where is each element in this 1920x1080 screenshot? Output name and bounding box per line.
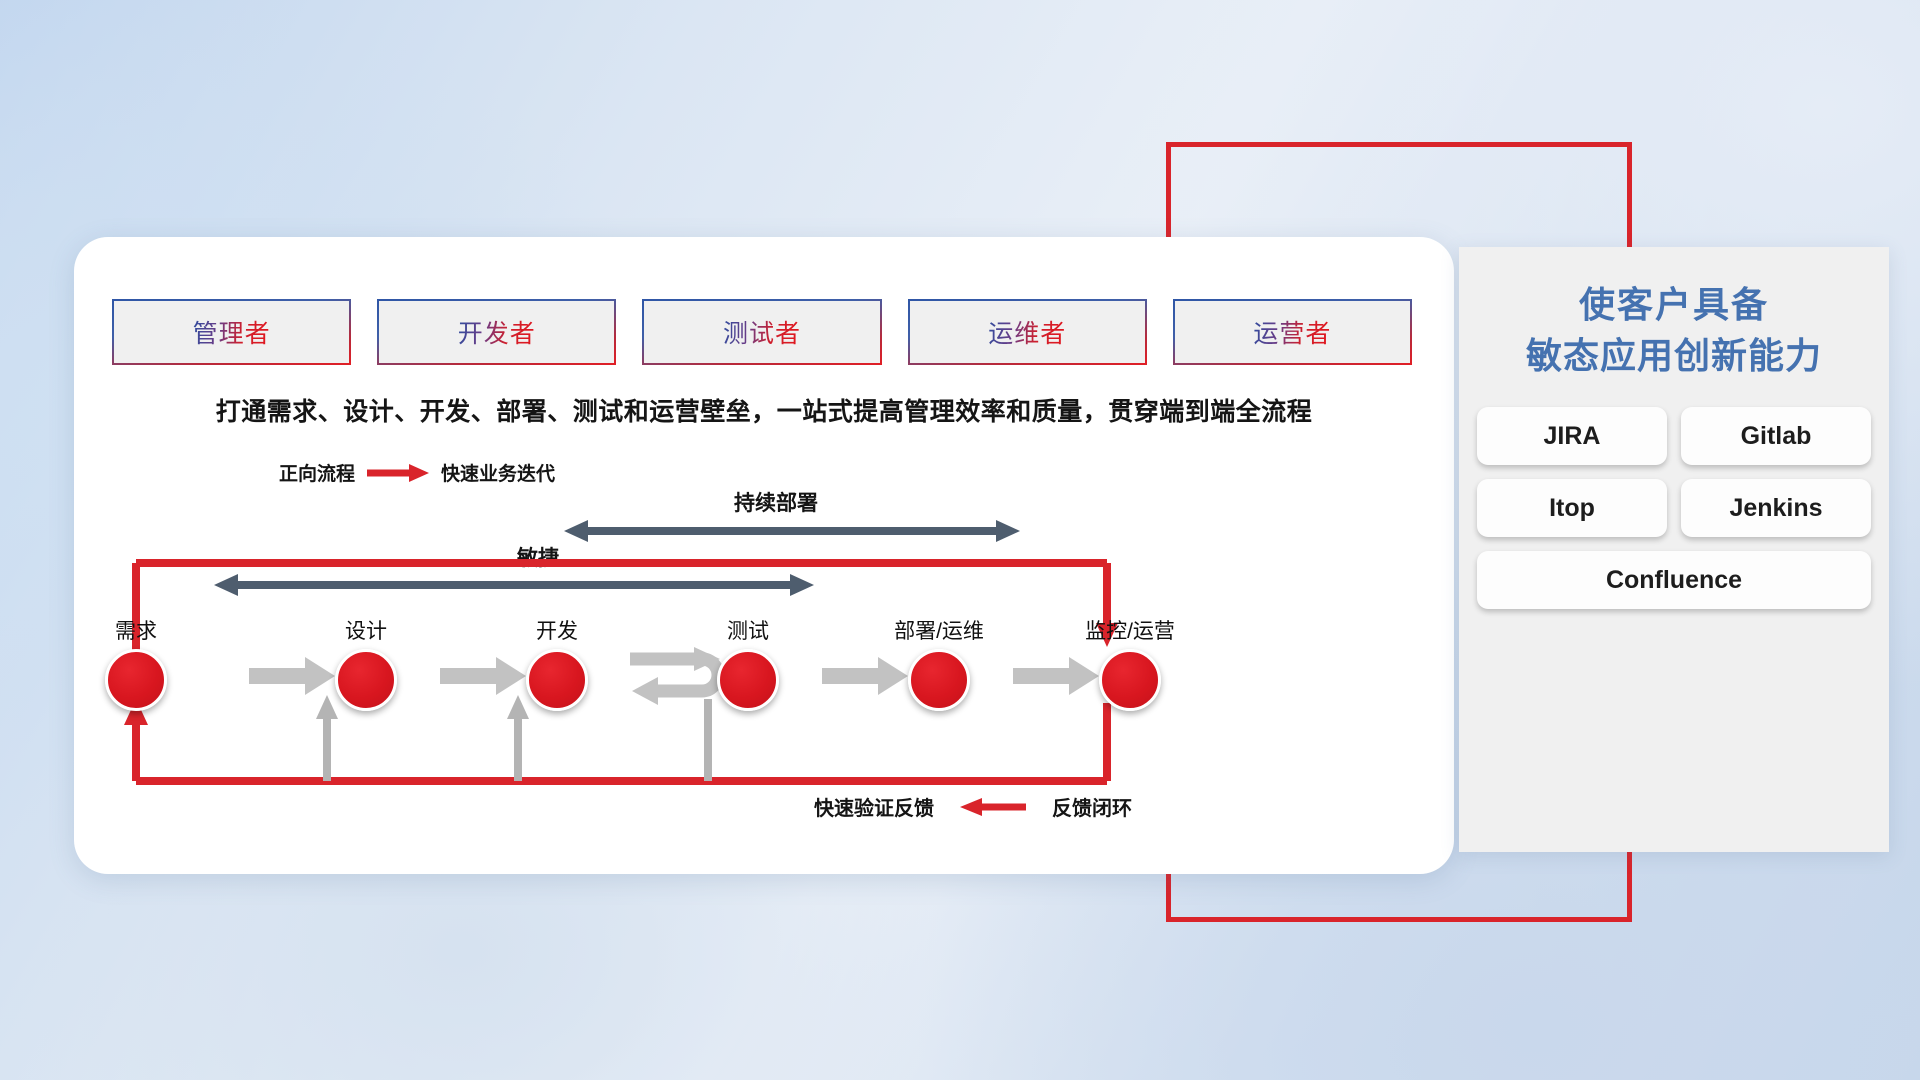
role-box-operations[interactable]: 运营者	[1173, 299, 1412, 365]
role-box-ops[interactable]: 运维者	[908, 299, 1147, 365]
role-label: 管理者	[193, 314, 271, 350]
feedback-result-label: 快速验证反馈	[814, 792, 934, 821]
main-content-card: 管理者 开发者 测试者 运维者 运营者 打通需求、设计、开发、部署、测试和运营壁…	[74, 237, 1454, 874]
feedback-loop-legend: 快速验证反馈 反馈闭环	[814, 792, 1132, 821]
agile-span-arrow	[214, 574, 814, 596]
stage-label: 部署/运维	[879, 615, 999, 645]
pipeline-stage-monitor-operations[interactable]: 监控/运营	[1070, 615, 1190, 711]
role-boxes-row: 管理者 开发者 测试者 运维者 运营者	[112, 299, 1412, 365]
stage-label: 需求	[76, 615, 196, 645]
panel-title-line-2: 敏态应用创新能力	[1459, 330, 1889, 381]
stage-label: 测试	[688, 615, 808, 645]
stage-dot-icon	[717, 649, 779, 711]
pipeline-stage-design[interactable]: 设计	[306, 615, 426, 711]
pipeline-stage-development[interactable]: 开发	[497, 615, 617, 711]
role-box-developer[interactable]: 开发者	[377, 299, 616, 365]
devops-pipeline: 需求 设计 开发	[114, 615, 1414, 735]
role-box-tester[interactable]: 测试者	[642, 299, 881, 365]
pipeline-stage-requirement[interactable]: 需求	[76, 615, 196, 711]
red-left-arrow-icon	[960, 798, 1026, 816]
stage-label: 设计	[306, 615, 426, 645]
role-label: 运维者	[988, 314, 1066, 350]
tool-pill-jenkins[interactable]: Jenkins	[1681, 479, 1871, 537]
role-label: 开发者	[458, 314, 536, 350]
stage-label: 监控/运营	[1070, 615, 1190, 645]
panel-title-line-1: 使客户具备	[1459, 279, 1889, 330]
stage-dot-icon	[908, 649, 970, 711]
feedback-source-label: 反馈闭环	[1052, 792, 1132, 821]
stage-dot-icon	[335, 649, 397, 711]
slide-canvas: 管理者 开发者 测试者 运维者 运营者 打通需求、设计、开发、部署、测试和运营壁…	[0, 0, 1920, 1080]
agile-label: 敏捷	[517, 542, 559, 572]
pipeline-stage-testing[interactable]: 测试	[688, 615, 808, 711]
tool-pill-jira[interactable]: JIRA	[1477, 407, 1667, 465]
tool-pill-grid: JIRA Gitlab Itop Jenkins Confluence	[1477, 407, 1871, 609]
tool-pill-confluence[interactable]: Confluence	[1477, 551, 1871, 609]
tools-panel-title: 使客户具备 敏态应用创新能力	[1459, 279, 1889, 381]
forward-flow-legend: 正向流程 快速业务迭代	[279, 459, 555, 486]
pipeline-stage-deploy-ops[interactable]: 部署/运维	[879, 615, 999, 711]
role-label: 测试者	[723, 314, 801, 350]
continuous-deployment-span-arrow	[564, 520, 1020, 542]
stage-dot-icon	[105, 649, 167, 711]
stage-dot-icon	[526, 649, 588, 711]
description-sentence: 打通需求、设计、开发、部署、测试和运营壁垒，一站式提高管理效率和质量，贯穿端到端…	[74, 392, 1454, 428]
role-box-manager[interactable]: 管理者	[112, 299, 351, 365]
red-right-arrow-icon	[367, 464, 429, 482]
tools-panel: 使客户具备 敏态应用创新能力 JIRA Gitlab Itop Jenkins …	[1459, 247, 1889, 852]
role-label: 运营者	[1253, 314, 1331, 350]
continuous-deployment-label: 持续部署	[734, 487, 818, 517]
tool-pill-gitlab[interactable]: Gitlab	[1681, 407, 1871, 465]
tool-pill-itop[interactable]: Itop	[1477, 479, 1667, 537]
stage-label: 开发	[497, 615, 617, 645]
forward-flow-target-label: 快速业务迭代	[441, 459, 555, 486]
stage-dot-icon	[1099, 649, 1161, 711]
forward-flow-source-label: 正向流程	[279, 459, 355, 486]
